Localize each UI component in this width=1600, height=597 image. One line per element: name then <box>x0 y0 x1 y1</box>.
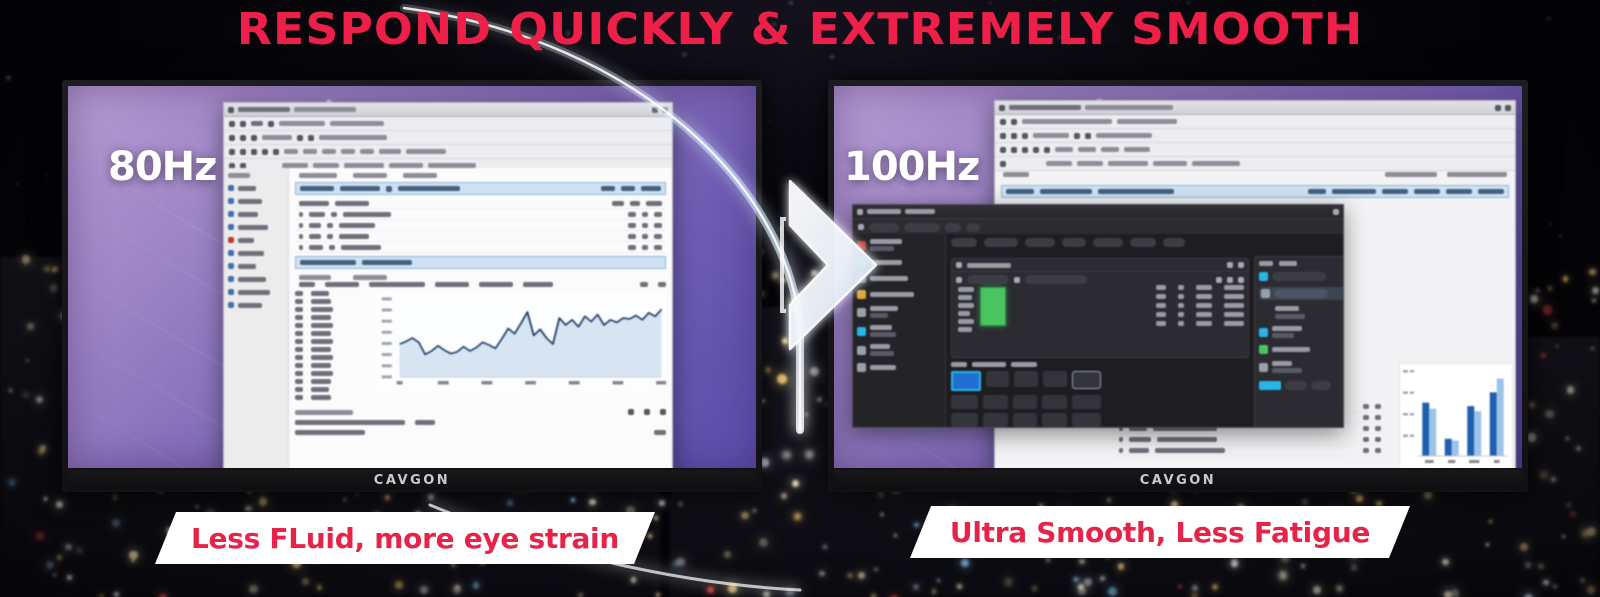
font-icon[interactable] <box>1000 133 1006 139</box>
ribbon-icon-3[interactable] <box>251 149 257 155</box>
footer-value-2 <box>654 430 666 435</box>
tab-3[interactable] <box>1025 238 1055 247</box>
keypad-tile[interactable] <box>983 395 1008 409</box>
sidebar-item-3[interactable] <box>228 211 284 217</box>
font-icon[interactable] <box>229 135 235 141</box>
ribbon-label-4 <box>341 149 355 154</box>
window-close-icon[interactable] <box>1505 105 1511 111</box>
sidebar-item-8[interactable] <box>228 276 284 282</box>
dark-sidebar[interactable] <box>853 234 946 427</box>
table-row[interactable] <box>295 209 666 220</box>
tab-5[interactable] <box>1093 238 1123 247</box>
ribbon-label-2 <box>303 149 317 154</box>
keypad-tile[interactable] <box>1072 395 1101 409</box>
sidebar-item-9[interactable] <box>228 289 284 295</box>
sidebar-item-6[interactable] <box>228 250 284 256</box>
table-row[interactable] <box>295 198 666 209</box>
table-row[interactable] <box>295 231 666 242</box>
page-title: RESPOND QUICKLY & EXTREMELY SMOOTH <box>0 8 1600 52</box>
sidebar-item-5[interactable] <box>228 237 284 243</box>
th-2 <box>340 186 380 191</box>
line-chart-svg <box>375 291 666 391</box>
sidebar-item-account[interactable] <box>857 239 941 251</box>
sidebar-item-3[interactable] <box>857 290 941 299</box>
keypad-tile[interactable] <box>1013 413 1038 427</box>
keypad-active-tile[interactable] <box>951 371 981 391</box>
window-minimize-icon[interactable] <box>1495 105 1501 111</box>
app-titlebar-dark[interactable] <box>853 205 1343 219</box>
ribbon-label-7 <box>406 149 446 154</box>
app-toolbar-row-1[interactable] <box>224 117 672 131</box>
app-content-area <box>224 168 672 468</box>
keypad-tile[interactable] <box>951 413 978 427</box>
sidebar-item-4[interactable] <box>857 306 941 318</box>
app-window-light[interactable] <box>223 102 673 468</box>
color-icon[interactable] <box>1085 133 1091 139</box>
th-6 <box>641 186 661 191</box>
undo-icon[interactable] <box>240 121 246 127</box>
th-4 <box>601 186 615 191</box>
italic-icon[interactable] <box>1022 133 1028 139</box>
sidebar-item-7[interactable] <box>228 263 284 269</box>
toolbar-field-2[interactable] <box>319 135 387 140</box>
promo-stage: RESPOND QUICKLY & EXTREMELY SMOOTH 80Hz <box>0 0 1600 597</box>
keypad-tile-outlined[interactable] <box>1072 371 1101 389</box>
toolbar-label <box>279 121 325 126</box>
column-caption-1 <box>299 173 337 178</box>
monitor-right-chin: CAVGON <box>834 470 1522 490</box>
table-header-row <box>1001 185 1509 198</box>
search-pill[interactable] <box>1025 275 1087 284</box>
search-icon[interactable] <box>1014 277 1020 283</box>
keypad-tile[interactable] <box>1014 371 1038 387</box>
keypad-tile[interactable] <box>983 413 1008 427</box>
table-header-row <box>295 182 666 195</box>
toolbar-label-2 <box>330 121 384 126</box>
section-label-2 <box>353 275 387 280</box>
settings-icon[interactable] <box>1216 277 1222 283</box>
keypad-tile[interactable] <box>1013 395 1038 409</box>
selected-cell-highlight[interactable] <box>980 287 1006 326</box>
sidebar-item-4[interactable] <box>228 224 284 230</box>
toolbar-field[interactable] <box>262 135 292 140</box>
inspector-row[interactable] <box>1272 272 1326 281</box>
sidebar-item-2[interactable] <box>228 198 284 204</box>
app-toolbar-row-3[interactable] <box>224 145 672 159</box>
caption-text-right: Ultra Smooth, Less Fatigue <box>950 516 1370 549</box>
titlebar-subtext <box>294 107 356 112</box>
keypad-tile[interactable] <box>1072 413 1101 427</box>
home-icon[interactable] <box>858 224 864 230</box>
sidebar-header <box>228 173 284 178</box>
sidebar-item-6[interactable] <box>857 344 941 356</box>
align-icon[interactable] <box>297 135 303 141</box>
app-sidebar[interactable] <box>224 168 289 468</box>
sidebar-item-7[interactable] <box>857 363 941 372</box>
keypad-tile[interactable] <box>986 371 1010 387</box>
app-toolbar-row-3[interactable] <box>995 143 1515 157</box>
keypad-tile[interactable] <box>1042 395 1067 409</box>
caption-banner-right: Ultra Smooth, Less Fatigue <box>910 506 1410 558</box>
inspector-row-selected[interactable] <box>1274 289 1328 298</box>
tab-7[interactable] <box>1163 238 1185 247</box>
footer-icon-2[interactable] <box>644 409 650 415</box>
keypad-tile[interactable] <box>1042 413 1067 427</box>
app-titlebar[interactable] <box>224 103 672 117</box>
app-toolbar-row-2[interactable] <box>995 129 1515 143</box>
ribbon-icon-5[interactable] <box>273 149 279 155</box>
app-menu-icon[interactable] <box>857 209 863 215</box>
bar-chart-svg <box>1400 364 1512 468</box>
brand-logo-right: CAVGON <box>1140 473 1216 488</box>
refresh-icon[interactable] <box>1227 277 1233 283</box>
footer-icon-1[interactable] <box>628 409 634 415</box>
monitor-left-screen: 80Hz <box>68 86 756 468</box>
sidebar-item-10[interactable] <box>228 302 284 308</box>
brand-logo-left: CAVGON <box>374 473 450 488</box>
dark-content-area <box>853 234 1343 427</box>
app-menu-icon[interactable] <box>228 107 234 113</box>
titlebar-subtext <box>1085 105 1173 110</box>
section-label-1 <box>299 275 331 280</box>
redo-icon[interactable] <box>268 121 274 127</box>
inspector-accent-button[interactable] <box>1259 381 1281 390</box>
titlebar-text <box>867 209 901 214</box>
caption-banner-left: Less FLuid, more eye strain <box>155 512 655 564</box>
grid-action-1[interactable] <box>1227 262 1233 268</box>
line-area-chart <box>375 291 666 391</box>
toolbar-pill-2[interactable] <box>904 223 940 232</box>
ribbon-label-6 <box>379 149 401 154</box>
dark-main-panel <box>946 234 1343 427</box>
titlebar-text <box>1009 105 1081 110</box>
footer-label-3 <box>295 430 365 435</box>
tab-4[interactable] <box>1062 238 1086 247</box>
filter-pill[interactable] <box>967 275 1009 284</box>
sidebar-item-1[interactable] <box>228 185 284 191</box>
italic-icon[interactable] <box>251 135 257 141</box>
chart-data-gutter <box>295 291 367 403</box>
keypad-tile[interactable] <box>1043 371 1067 387</box>
th-3 <box>398 186 460 191</box>
app-window-dark[interactable] <box>852 204 1344 428</box>
color-icon[interactable] <box>308 135 314 141</box>
ribbon-icon-2[interactable] <box>240 149 246 155</box>
filter-icon[interactable] <box>956 277 962 283</box>
bar-chart-panel <box>1399 363 1513 468</box>
window-minimize-icon[interactable] <box>652 107 658 113</box>
ribbon-label-1 <box>284 149 298 154</box>
refresh-rate-label-left: 80Hz <box>108 144 216 190</box>
align-icon[interactable] <box>1074 133 1080 139</box>
titlebar-text <box>238 107 290 112</box>
monitor-right: 100Hz <box>828 80 1528 500</box>
table-row[interactable] <box>295 220 666 231</box>
refresh-rate-label-right: 100Hz <box>844 144 979 190</box>
tab-6[interactable] <box>1130 238 1156 247</box>
more-icon[interactable] <box>1238 277 1244 283</box>
save-icon[interactable] <box>229 121 235 127</box>
app-menu-icon[interactable] <box>999 105 1005 111</box>
tab-2[interactable] <box>984 238 1018 247</box>
toolbar-pill-4[interactable] <box>966 223 980 232</box>
table-group-band <box>295 256 666 269</box>
caption-text-left: Less FLuid, more eye strain <box>191 522 619 555</box>
ribbon-icon-4[interactable] <box>262 149 268 155</box>
ribbon-icon-1[interactable] <box>229 149 235 155</box>
window-close-icon[interactable] <box>662 107 668 113</box>
column-caption-3 <box>403 173 437 178</box>
dark-inspector-panel <box>1254 256 1343 427</box>
monitor-left: 80Hz <box>62 80 762 500</box>
tab-1[interactable] <box>951 238 977 247</box>
column-caption-2 <box>353 173 387 178</box>
toolbar-pill-1[interactable] <box>869 223 899 232</box>
toolbar-blob[interactable] <box>251 121 263 126</box>
sidebar-item-1[interactable] <box>857 258 941 267</box>
grid-action-2[interactable] <box>1238 262 1244 268</box>
bold-icon[interactable] <box>240 135 246 141</box>
footer-label-2 <box>295 420 405 425</box>
ribbon-label-5 <box>360 149 374 154</box>
ribbon-label-3 <box>322 149 336 154</box>
dark-data-grid-card <box>951 258 1249 358</box>
inspector-button-2[interactable] <box>1285 381 1307 390</box>
save-icon[interactable] <box>1000 119 1006 125</box>
app-titlebar[interactable] <box>995 101 1515 115</box>
th-sort-icon[interactable] <box>386 186 392 192</box>
th-5 <box>621 186 635 191</box>
monitor-left-chin: CAVGON <box>68 470 756 490</box>
grid-icon[interactable] <box>956 262 962 268</box>
app-toolbar-row-2[interactable] <box>224 131 672 145</box>
table-row[interactable] <box>1115 434 1385 445</box>
footer-value-1 <box>415 420 435 425</box>
keypad-tile[interactable] <box>951 395 978 409</box>
app-main-panel <box>289 168 672 468</box>
monitor-right-screen: 100Hz <box>834 86 1522 468</box>
sidebar-item-2[interactable] <box>857 274 941 283</box>
app-toolbar-row-1[interactable] <box>995 115 1515 129</box>
table-row[interactable] <box>1115 445 1385 456</box>
inspector-button-3[interactable] <box>1311 381 1331 390</box>
toolbar-pill-3[interactable] <box>945 223 961 232</box>
window-close-icon[interactable] <box>1333 209 1339 215</box>
undo-icon[interactable] <box>1011 119 1017 125</box>
footer-icon-3[interactable] <box>660 409 666 415</box>
sidebar-item-5[interactable] <box>857 325 941 337</box>
titlebar-subtext <box>905 209 935 214</box>
footer-label-1 <box>295 410 353 415</box>
bold-icon[interactable] <box>1011 133 1017 139</box>
table-row[interactable] <box>295 242 666 253</box>
th-1 <box>300 186 334 191</box>
